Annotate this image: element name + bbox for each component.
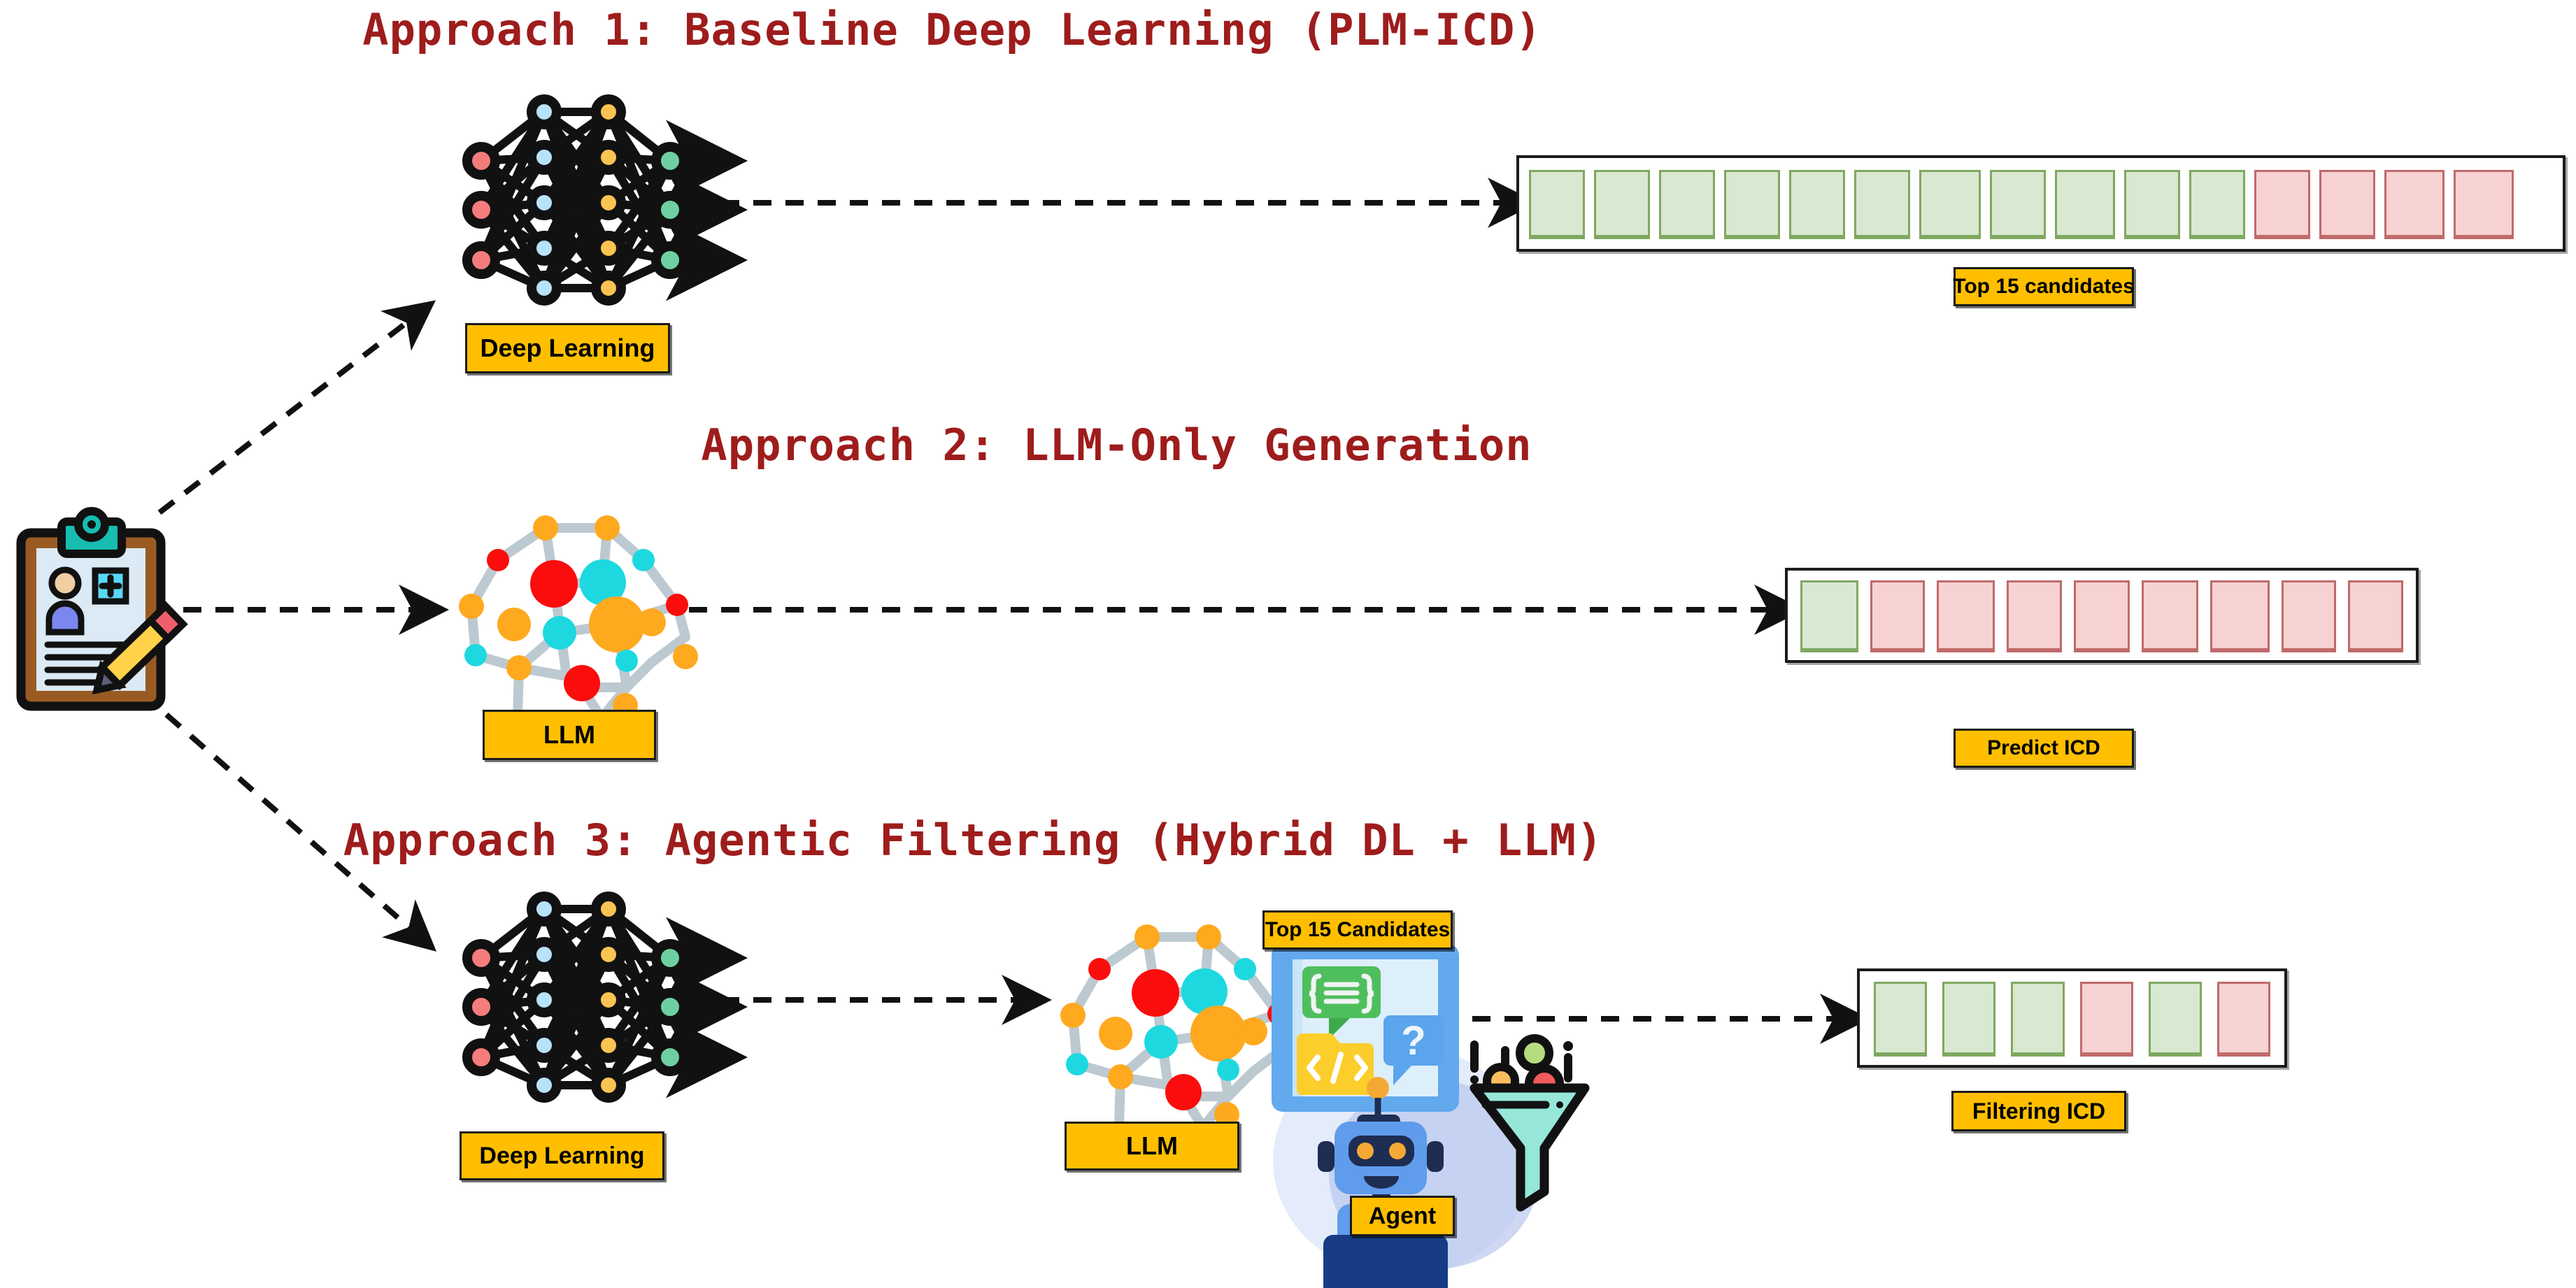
- neural-network-icon: [467, 99, 720, 301]
- predicted-cell: [2348, 580, 2403, 650]
- candidate-cell: [2384, 170, 2445, 237]
- arrow-clipboard-to-approach-1: [159, 310, 422, 513]
- predicted-cell: [1800, 580, 1858, 650]
- candidate-cell: [1789, 170, 1845, 237]
- candidate-cell: [1659, 170, 1715, 237]
- candidate-cell: [1854, 170, 1910, 237]
- predicted-cell: [1870, 580, 1926, 650]
- predicted-cell: [2142, 580, 2198, 650]
- approach-3-title: Approach 3: Agentic Filtering (Hybrid DL…: [0, 815, 2261, 866]
- approach-3-agent-label: Agent: [1350, 1196, 1455, 1236]
- approach-1-output-label: Top 15 candidates: [1954, 267, 2134, 306]
- approach-1-output-strip: [1516, 155, 2566, 252]
- approach-2-title: Approach 2: LLM-Only Generation: [0, 420, 2405, 471]
- approach-3-output-strip: [1857, 968, 2287, 1068]
- predicted-cell: [2074, 580, 2130, 650]
- approach-3-candidates-label: Top 15 Candidates: [1262, 910, 1453, 950]
- candidate-cell: [2454, 170, 2514, 237]
- svg-text:?: ?: [1401, 1018, 1425, 1064]
- candidate-cell: [2189, 170, 2245, 237]
- approach-3-model-label: Deep Learning: [460, 1131, 664, 1180]
- llm-brain-network-icon: [1060, 924, 1300, 1152]
- filtered-cell: [2149, 982, 2202, 1054]
- candidate-cell: [2319, 170, 2375, 237]
- candidate-cell: [1919, 170, 1981, 237]
- candidate-cell: [2254, 170, 2310, 237]
- candidate-cell: [2124, 170, 2180, 237]
- predicted-cell: [1937, 580, 1995, 650]
- approach-1-model-label: Deep Learning: [465, 323, 670, 373]
- candidate-cell: [2055, 170, 2115, 237]
- candidate-cell: [1990, 170, 2046, 237]
- approach-1-title: Approach 1: Baseline Deep Learning (PLM-…: [0, 4, 2240, 55]
- approach-2-output-strip: [1785, 568, 2419, 663]
- predicted-cell: [2282, 580, 2337, 650]
- candidate-cell: [1529, 170, 1585, 237]
- medical-record-clipboard-icon: [21, 511, 183, 706]
- predicted-cell: [2007, 580, 2062, 650]
- filtered-cell: [2080, 982, 2133, 1054]
- neural-network-icon: [467, 896, 720, 1098]
- approach-2-output-label: Predict ICD: [1954, 729, 2134, 768]
- predicted-cell: [2210, 580, 2270, 650]
- filtered-cell: [2011, 982, 2064, 1054]
- approach-3-llm-label: LLM: [1065, 1122, 1239, 1171]
- candidate-cell: [1594, 170, 1650, 237]
- filtered-cell: [1942, 982, 1995, 1054]
- approach-3-output-label: Filtering ICD: [1951, 1091, 2126, 1131]
- candidate-cell: [1724, 170, 1780, 237]
- diagram-canvas: ?: [0, 0, 2576, 1288]
- filtered-cell: [1874, 982, 1927, 1054]
- approach-2-model-label: LLM: [483, 710, 656, 760]
- filtered-cell: [2217, 982, 2270, 1054]
